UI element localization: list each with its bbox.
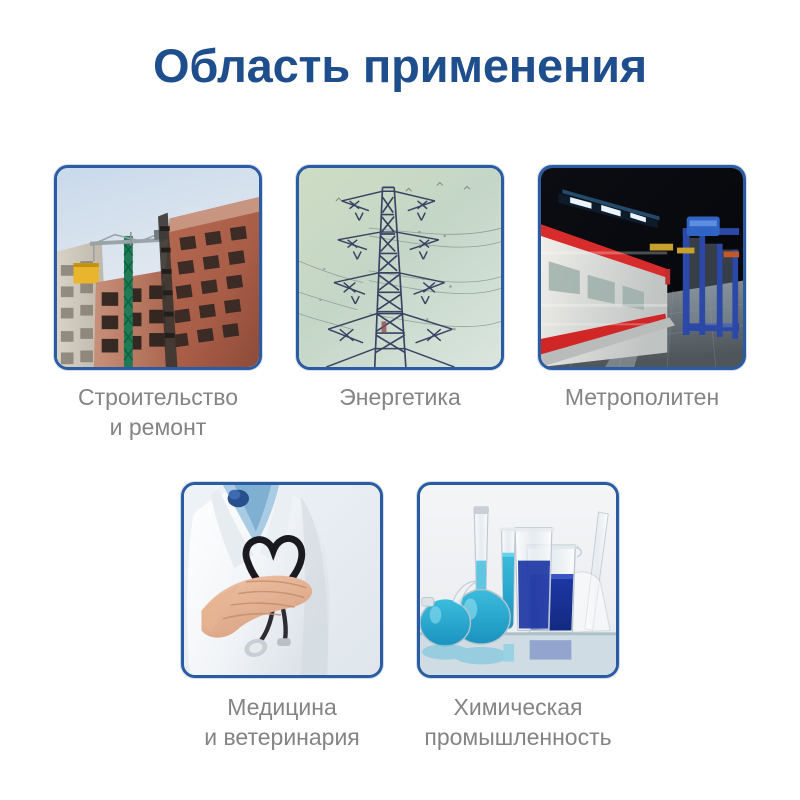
card-label-medicine: Медицина и ветеринария — [167, 692, 397, 753]
doctor-stethoscope-photo — [181, 482, 383, 678]
page-title: Область применения — [0, 40, 800, 92]
card-energy[interactable]: Энергетика — [296, 165, 504, 443]
card-label-chemistry: Химическая промышленность — [403, 692, 633, 753]
card-medicine[interactable]: Медицина и ветеринария — [181, 482, 383, 753]
card-label-energy: Энергетика — [280, 382, 520, 412]
metro-station-photo — [538, 165, 746, 370]
card-label-construction: Строительство и ремонт — [38, 382, 278, 443]
card-row-top: Строительство и ремонт — [0, 165, 800, 443]
application-areas-page: Область применения — [0, 0, 800, 800]
card-construction[interactable]: Строительство и ремонт — [54, 165, 262, 443]
laboratory-glassware-photo — [417, 482, 619, 678]
card-label-metro: Метрополитен — [522, 382, 762, 412]
power-transmission-tower-photo — [296, 165, 504, 370]
card-chemistry[interactable]: Химическая промышленность — [417, 482, 619, 753]
construction-site-photo — [54, 165, 262, 370]
card-metro[interactable]: Метрополитен — [538, 165, 746, 443]
card-row-bottom: Медицина и ветеринария — [0, 482, 800, 753]
